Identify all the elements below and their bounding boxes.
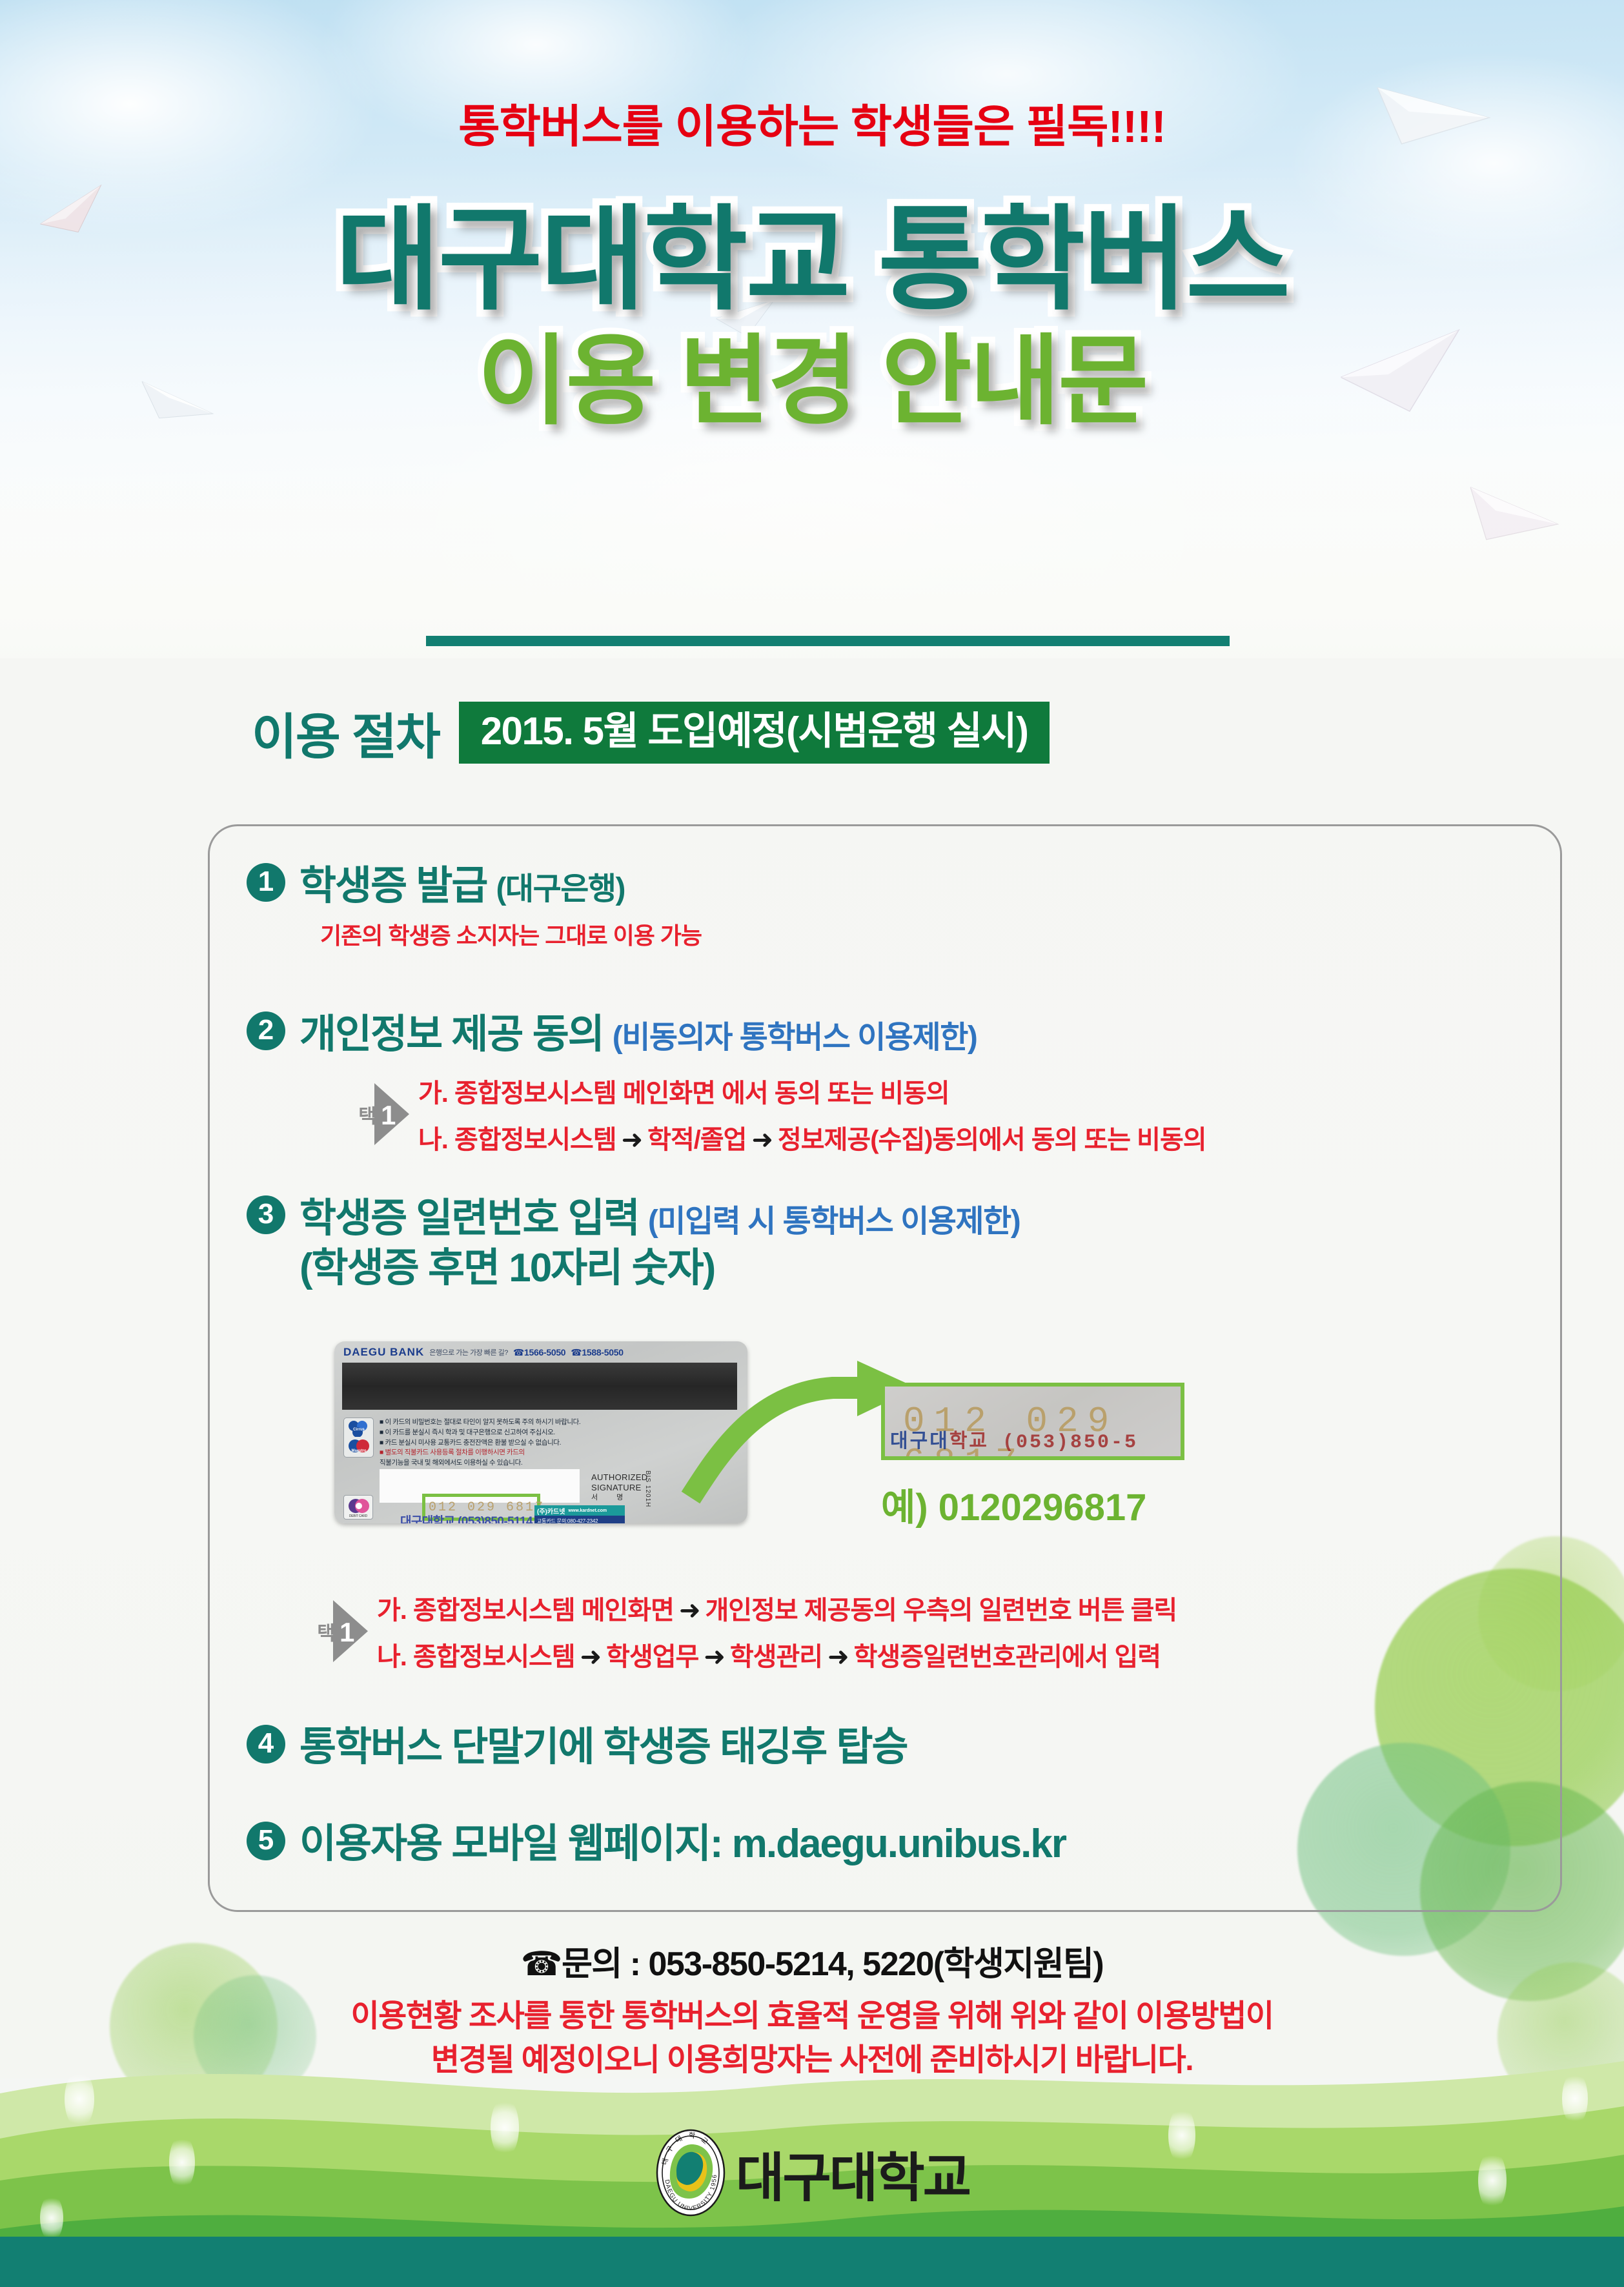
bis-code: BIS 1201H: [644, 1470, 651, 1507]
kicker-headline: 통학버스를 이용하는 학생들은 필독!!!!: [0, 90, 1624, 156]
debit-label: DEBIT CARD: [344, 1514, 372, 1518]
serial-number-callout: 012 029 6817 대구대학교 (053)850-5 예) 0120296…: [881, 1383, 1184, 1531]
card-note-3: ■ 카드 분실시 미사용 교통카드 충전잔액은 환불 받으실 수 없습니다.: [380, 1438, 638, 1448]
step-3-choice-group: 택 1 가. 종합정보시스템 메인화면➜개인정보 제공동의 우측의 일련번호 버…: [314, 1589, 1177, 1673]
step-1-subtext: 기존의 학생증 소지자는 그대로 이용 가능: [320, 917, 702, 951]
daegu-bank-logo: DAEGU BANK: [343, 1346, 424, 1359]
arrow-right-icon: ➜: [822, 1643, 854, 1671]
step-3-choice-b: 나. 종합정보시스템➜학생업무➜학생관리➜학생증일련번호관리에서 입력: [377, 1636, 1177, 1673]
svg-text:Cirrus: Cirrus: [353, 1428, 365, 1432]
authorized-signature-label: AUTHORIZEDSIGNATURE 서 명: [591, 1472, 648, 1502]
choose-one-marker: 택 1: [314, 1600, 368, 1662]
choose-label: 택: [355, 1106, 374, 1123]
bank-tel-1: ☎1566-5050: [513, 1347, 565, 1358]
step-2-choice-group: 택 1 가. 종합정보시스템 메인화면 에서 동의 또는 비동의 나. 종합정보…: [355, 1072, 1206, 1156]
step-3: 3 학생증 일련번호 입력 (미입력 시 통학버스 이용제한) (학생증 후면 …: [247, 1195, 1020, 1291]
maestro-icon: Maestro: [347, 1438, 371, 1455]
step-1-title: 학생증 발급: [299, 864, 487, 908]
step-5: 5 이용자용 모바일 웹페이지: m.daegu.unibus.kr: [247, 1822, 1066, 1866]
card-note-2: ■ 이 카드를 분실시 즉시 학과 및 대구은행으로 신고하여 주십시오.: [380, 1428, 638, 1438]
daegu-university-emblem-icon: 대 구 대 학 교 DAEGU UNIVERSITY 1956: [655, 2128, 727, 2218]
card-note-1: ■ 이 카드의 비밀번호는 절대로 타인이 알지 못하도록 주의 하시기 바랍니…: [380, 1418, 638, 1428]
callout-example: 예) 0120296817: [881, 1477, 1184, 1531]
step-2-note: (비동의자 통학버스 이용제한): [613, 1011, 977, 1057]
choose-number: 1: [340, 1617, 354, 1648]
callout-zoom-box: 012 029 6817 대구대학교 (053)850-5: [881, 1383, 1184, 1460]
choose-number: 1: [381, 1100, 396, 1131]
contact-line: ☎문의 : 053-850-5214, 5220(학생지원팀): [0, 1936, 1624, 1985]
step-number-badge: 3: [247, 1195, 285, 1234]
title-divider: [426, 636, 1230, 646]
step-4: 4 통학버스 단말기에 학생증 태깅후 탑승: [247, 1725, 908, 1769]
card-note-4: ■ 별도의 직불카드 사용등록 절차를 이행하시면 카드의: [380, 1448, 638, 1458]
step-5-title: 이용자용 모바일 웹페이지: m.daegu.unibus.kr: [299, 1822, 1066, 1866]
cirrus-icon: Cirrus: [347, 1420, 371, 1437]
bank-tel-2: ☎1588-5050: [571, 1347, 623, 1358]
university-name: 대구대학교: [736, 2135, 969, 2211]
callout-underline-text: 대구대학교 (053)850-5: [890, 1425, 1138, 1454]
choose-one-marker: 택 1: [355, 1083, 409, 1145]
svg-text:Maestro: Maestro: [351, 1449, 366, 1453]
step-3-note: (미입력 시 통학버스 이용제한): [648, 1195, 1020, 1241]
section-label: 이용 절차: [252, 697, 440, 768]
poster-content: 통학버스를 이용하는 학생들은 필독!!!! 대구대학교 통학버스 이용 변경 …: [0, 0, 1624, 2287]
kardnet-block: (주)카드넷www.kardnet.com 교통카드 문의:080-427-23…: [534, 1505, 625, 1523]
choose-label: 택: [314, 1623, 333, 1640]
triangle-icon: 1: [333, 1600, 368, 1662]
title-line-1: 대구대학교 통학버스: [0, 200, 1624, 321]
notice-line-1: 이용현황 조사를 통한 통학버스의 효율적 운영을 위해 위와 같이 이용방법이: [0, 1995, 1624, 2038]
arrow-right-icon: ➜: [616, 1126, 648, 1154]
step-3-title: 학생증 일련번호 입력: [299, 1196, 639, 1241]
arrow-right-icon: ➜: [698, 1643, 730, 1671]
card-note-5: 직불기능을 국내 및 해외에서도 이용하실 수 있습니다.: [380, 1458, 638, 1469]
university-logo-row: 대 구 대 학 교 DAEGU UNIVERSITY 1956 대구대학교: [0, 2128, 1624, 2218]
step-2-choice-a: 가. 종합정보시스템 메인화면 에서 동의 또는 비동의: [418, 1072, 1206, 1110]
step-number-badge: 2: [247, 1011, 285, 1050]
step-1-note: (대구은행): [496, 863, 625, 908]
card-notes: ■ 이 카드의 비밀번호는 절대로 타인이 알지 못하도록 주의 하시기 바랍니…: [380, 1418, 638, 1469]
step-3-title-line2: (학생증 후면 10자리 숫자): [299, 1246, 1020, 1290]
step-number-badge: 5: [247, 1822, 285, 1860]
step-4-title: 통학버스 단말기에 학생증 태깅후 탑승: [299, 1725, 908, 1769]
arrow-right-icon: ➜: [746, 1126, 778, 1154]
step-2-title: 개인정보 제공 동의: [299, 1012, 604, 1057]
step-number-badge: 1: [247, 863, 285, 902]
step-2: 2 개인정보 제공 동의 (비동의자 통학버스 이용제한) 택 1 가. 종합정…: [247, 1011, 1206, 1156]
arrow-right-icon: ➜: [575, 1643, 607, 1671]
arrow-right-icon: ➜: [674, 1596, 705, 1625]
signature-label-kr: 서 명: [591, 1494, 648, 1503]
notice-block: 이용현황 조사를 통한 통학버스의 효율적 운영을 위해 위와 같이 이용방법이…: [0, 1995, 1624, 2082]
bank-tagline: 은행으로 가는 가장 빠른 길?: [429, 1347, 508, 1357]
section-banner: 2015. 5월 도입예정(시범운행 실시): [459, 702, 1050, 764]
step-number-badge: 4: [247, 1725, 285, 1764]
section-header: 이용 절차 2015. 5월 도입예정(시범운행 실시): [252, 697, 1050, 768]
triangle-icon: 1: [374, 1083, 409, 1145]
step-3-choice-a: 가. 종합정보시스템 메인화면➜개인정보 제공동의 우측의 일련번호 버튼 클릭: [377, 1589, 1177, 1627]
poster-title: 대구대학교 통학버스 이용 변경 안내문: [0, 200, 1624, 434]
notice-line-2: 변경될 예정이오니 이용희망자는 사전에 준비하시기 바랍니다.: [0, 2038, 1624, 2082]
university-contact-line: 대구대학교 (053)850-5114: [400, 1512, 533, 1523]
title-line-2: 이용 변경 안내문: [0, 330, 1624, 434]
step-2-choice-b: 나. 종합정보시스템➜학적/졸업➜정보제공(수집)동의에서 동의 또는 비동의: [418, 1119, 1206, 1156]
step-1: 1 학생증 발급 (대구은행) 기존의 학생증 소지자는 그대로 이용 가능: [247, 863, 702, 951]
debit-card-logo: DEBIT CARD: [343, 1495, 373, 1520]
kardnet-contact: 교통카드 문의:080-427-2342: [534, 1516, 625, 1523]
kardnet-url: www.kardnet.com: [568, 1509, 607, 1513]
cirrus-maestro-logo: Cirrus Maestro: [343, 1418, 374, 1458]
kardnet-name: (주)카드넷: [537, 1506, 565, 1516]
